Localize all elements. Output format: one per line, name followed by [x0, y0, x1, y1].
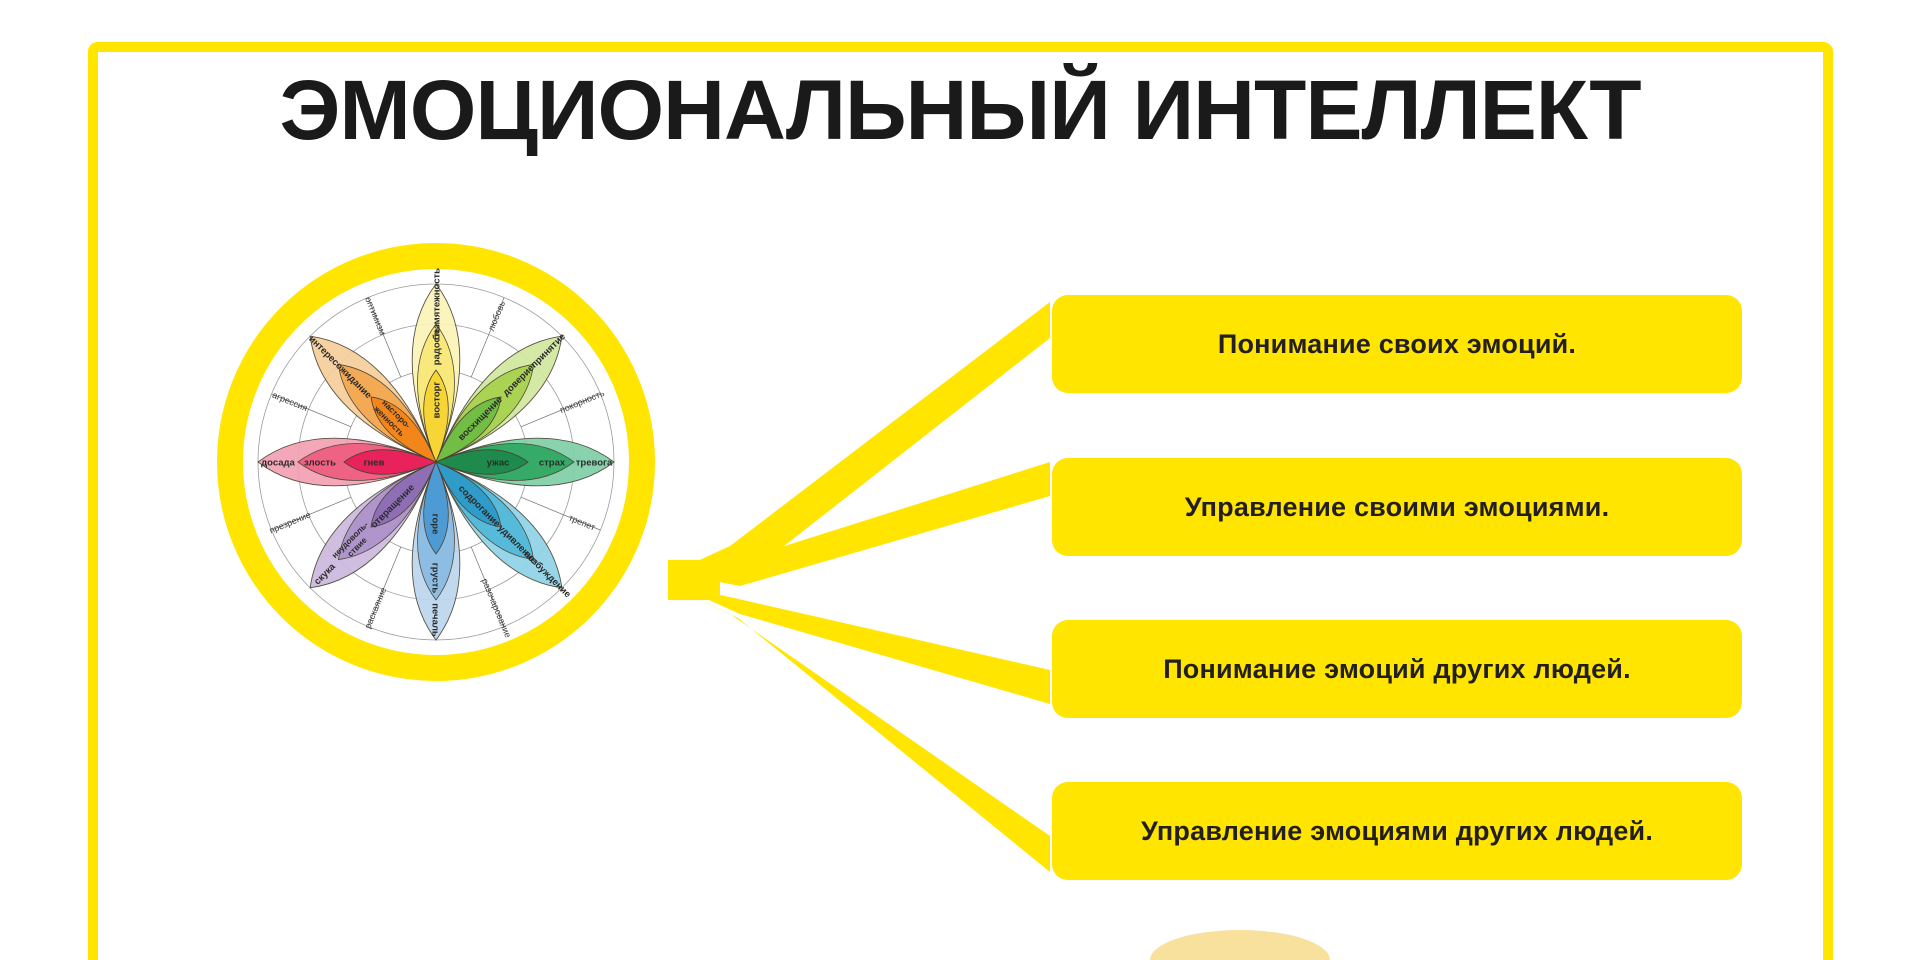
callout-box-managing-others-emotions[interactable]: Управление эмоциями других людей.	[1052, 782, 1742, 880]
dyad-label: раскаяние	[363, 586, 389, 630]
callout-box-managing-own-emotions[interactable]: Управление своими эмоциями.	[1052, 458, 1742, 556]
callout-box-understanding-others-emotions[interactable]: Понимание эмоций других людей.	[1052, 620, 1742, 718]
bottom-decorative-blob	[1150, 930, 1330, 960]
callout-connector-lines	[660, 230, 1080, 930]
emotion-label: печаль	[430, 603, 441, 637]
connector-hub	[668, 560, 720, 600]
callout-box-understanding-own-emotions[interactable]: Понимание своих эмоций.	[1052, 295, 1742, 393]
dyad-label: презрение	[268, 509, 312, 535]
emotion-label: ужас	[487, 457, 510, 468]
callout-label: Управление своими эмоциями.	[1185, 492, 1610, 523]
dyad-label: оптимизм	[363, 295, 388, 336]
callout-label: Понимание эмоций других людей.	[1163, 654, 1631, 685]
emotion-label: гнев	[364, 457, 385, 468]
plutchik-emotion-wheel: безмятежностьрадостьвосторгпринятиедовер…	[196, 222, 676, 702]
emotion-label: радость	[431, 327, 442, 366]
emotion-wheel-svg: безмятежностьрадостьвосторгпринятиедовер…	[196, 222, 676, 702]
emotion-label: злость	[304, 457, 336, 468]
emotion-label: досада	[261, 457, 295, 468]
infographic-page: ЭМОЦИОНАЛЬНЫЙ ИНТЕЛЛЕКТ безмятежностьрад…	[0, 0, 1920, 960]
emotion-label: горе	[430, 514, 441, 535]
page-title: ЭМОЦИОНАЛЬНЫЙ ИНТЕЛЛЕКТ	[0, 62, 1920, 158]
dyad-label: трепет	[567, 513, 597, 533]
connector-to-callout-3	[678, 586, 1050, 704]
emotion-label: восторг	[431, 382, 442, 419]
emotion-label: тревога	[576, 457, 613, 468]
dyad-label: агрессия	[271, 390, 309, 414]
dyad-label: покорность	[558, 388, 606, 415]
emotion-label: страх	[539, 457, 566, 468]
dyad-label: любовь	[486, 299, 507, 332]
emotion-label: грусть	[430, 563, 441, 594]
callout-label: Управление эмоциями других людей.	[1141, 816, 1653, 847]
callout-label: Понимание своих эмоций.	[1218, 329, 1576, 360]
